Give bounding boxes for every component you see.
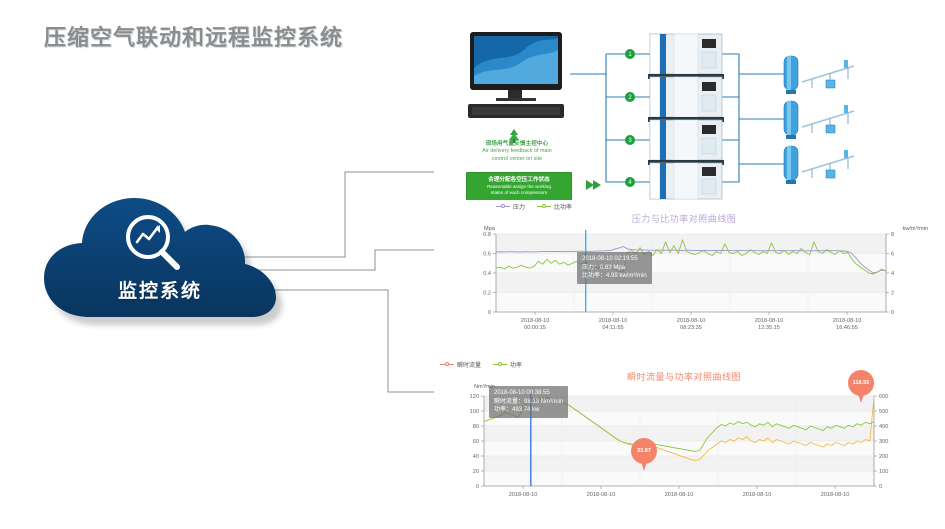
chart1-tooltip-line1: 压力：0.63 Mpa — [582, 264, 647, 273]
svg-text:300: 300 — [879, 439, 888, 445]
svg-text:0.4: 0.4 — [483, 271, 491, 277]
assign-states-callout: 合理分配各空压工作状态 Reasonable assign the workin… — [466, 172, 572, 201]
chart2-marker-high[interactable]: 118.55 — [848, 370, 874, 404]
chart1-tooltip: 2018-08-10 02:19:55 压力：0.63 Mpa 比功率：4.99… — [577, 252, 652, 284]
svg-text:12:35:15: 12:35:15 — [758, 325, 780, 331]
slide-root: 压缩空气联动和远程监控系统 监控系统 — [0, 0, 945, 529]
marker-label-high: 118.55 — [848, 370, 874, 396]
monitoring-cloud[interactable]: 监控系统 — [38, 192, 288, 332]
page-title: 压缩空气联动和远程监控系统 — [44, 20, 343, 52]
svg-text:16:46:55: 16:46:55 — [836, 325, 858, 331]
assign-states-cn: 合理分配各空压工作状态 — [488, 177, 550, 184]
chart-magnifier-icon — [120, 212, 186, 274]
flow-power-chart[interactable]: 瞬时流量 功率 瞬时流量与功率对照曲线图 Nm³/min 12010080604… — [434, 358, 934, 529]
svg-text:120: 120 — [470, 394, 479, 400]
svg-text:2018-08-10: 2018-08-10 — [677, 318, 706, 324]
svg-text:2018-08-10: 2018-08-10 — [521, 318, 550, 324]
svg-text:2018-08-10: 2018-08-10 — [821, 492, 850, 498]
marker-label-low: 33.87 — [631, 438, 657, 464]
svg-text:2018-08-10: 2018-08-10 — [599, 318, 628, 324]
svg-text:2018-08-10: 2018-08-10 — [509, 492, 538, 498]
green-arrow-icon — [584, 176, 604, 194]
svg-text:2018-08-10: 2018-08-10 — [587, 492, 616, 498]
chart1-tooltip-line2: 比功率：4.99 kw/m³/min — [582, 272, 647, 281]
control-center-label-en2: control center on site — [452, 156, 582, 164]
svg-text:500: 500 — [879, 409, 888, 415]
cloud-label: 监控系统 — [38, 276, 282, 303]
assign-states-en2: states of each compressors — [491, 190, 547, 196]
svg-text:2: 2 — [891, 291, 894, 297]
svg-text:2018-08-10: 2018-08-10 — [755, 318, 784, 324]
svg-text:400: 400 — [879, 424, 888, 430]
svg-text:6: 6 — [891, 252, 894, 258]
chart2-tooltip-line2: 功率：493.74 kw — [494, 406, 563, 415]
svg-text:00:00:15: 00:00:15 — [524, 325, 546, 331]
svg-text:0: 0 — [488, 310, 491, 316]
svg-text:100: 100 — [470, 409, 479, 415]
svg-text:0: 0 — [879, 484, 882, 490]
control-center-label-en1: Air delivery feedback of main — [452, 148, 582, 156]
svg-text:0.8: 0.8 — [483, 232, 491, 238]
svg-text:100: 100 — [879, 469, 888, 475]
svg-text:0: 0 — [891, 310, 894, 316]
svg-text:0.6: 0.6 — [483, 252, 491, 258]
svg-text:2018-08-10: 2018-08-10 — [665, 492, 694, 498]
desktop-computer-icon — [462, 30, 570, 126]
svg-text:2018-08-10: 2018-08-10 — [833, 318, 862, 324]
svg-text:08:23:35: 08:23:35 — [680, 325, 702, 331]
svg-text:0.2: 0.2 — [483, 291, 491, 297]
control-center-label-cn: 现场用气量反馈主控中心 — [452, 140, 582, 148]
svg-text:8: 8 — [891, 232, 894, 238]
pressure-power-chart[interactable]: 压力 比功率 压力与比功率对照曲线图 Mpa kw/m³/min 0.80.60… — [434, 200, 934, 340]
chart1-tooltip-time: 2018-08-10 02:19:55 — [582, 255, 647, 264]
svg-text:200: 200 — [879, 454, 888, 460]
svg-text:40: 40 — [473, 454, 479, 460]
svg-text:0: 0 — [476, 484, 479, 490]
svg-text:20: 20 — [473, 469, 479, 475]
svg-text:80: 80 — [473, 424, 479, 430]
chart2-tooltip-line1: 瞬时流量：98.13 Nm³/min — [494, 398, 563, 407]
svg-text:2018-08-10: 2018-08-10 — [743, 492, 772, 498]
chart2-tooltip: 2018-08-10 00:38:55 瞬时流量：98.13 Nm³/min 功… — [489, 386, 568, 418]
svg-text:600: 600 — [879, 394, 888, 400]
chart2-marker-low[interactable]: 33.87 — [631, 438, 657, 472]
system-diagram-panel: 12 34 — [434, 24, 934, 202]
svg-text:60: 60 — [473, 439, 479, 445]
svg-text:04:11:55: 04:11:55 — [602, 325, 623, 331]
control-center-label: 现场用气量反馈主控中心 Air delivery feedback of mai… — [452, 140, 582, 163]
chart1-plot: 0.80.60.40.20864202018-08-1000:00:152018… — [434, 200, 934, 340]
chart2-tooltip-time: 2018-08-10 00:38:55 — [494, 389, 563, 398]
svg-text:4: 4 — [891, 271, 894, 277]
